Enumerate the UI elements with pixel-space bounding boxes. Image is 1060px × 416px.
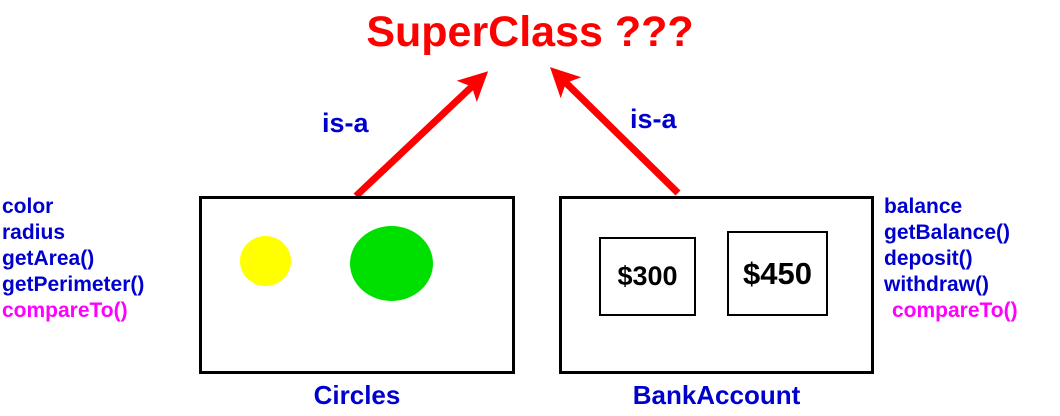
circles-class-box	[199, 196, 515, 374]
diagram-canvas: SuperClass ??? is-a is-a color radius ge…	[0, 0, 1060, 416]
account-balance-1: $300	[599, 237, 696, 316]
is-a-arrow-circles	[356, 77, 482, 196]
page-title: SuperClass ???	[0, 8, 1060, 57]
member-get-area: getArea()	[2, 246, 144, 272]
member-compare-to-circles: compareTo()	[2, 298, 144, 324]
member-color: color	[2, 194, 144, 220]
member-radius: radius	[2, 220, 144, 246]
account-balance-2: $450	[727, 231, 828, 316]
circles-class-caption: Circles	[199, 380, 515, 411]
bankaccount-class-caption: BankAccount	[559, 380, 874, 411]
bankaccount-class-box: $300 $450	[559, 196, 874, 374]
member-balance: balance	[884, 194, 1018, 220]
member-get-perimeter: getPerimeter()	[2, 272, 144, 298]
circles-member-list: color radius getArea() getPerimeter() co…	[2, 194, 144, 324]
member-compare-to-bankaccount: compareTo()	[884, 298, 1018, 324]
member-deposit: deposit()	[884, 246, 1018, 272]
yellow-circle-shape	[240, 236, 291, 286]
green-circle-shape	[350, 226, 433, 301]
is-a-label-left: is-a	[322, 108, 369, 139]
bankaccount-member-list: balance getBalance() deposit() withdraw(…	[884, 194, 1018, 324]
is-a-label-right: is-a	[630, 104, 677, 135]
member-withdraw: withdraw()	[884, 272, 1018, 298]
member-get-balance: getBalance()	[884, 220, 1018, 246]
